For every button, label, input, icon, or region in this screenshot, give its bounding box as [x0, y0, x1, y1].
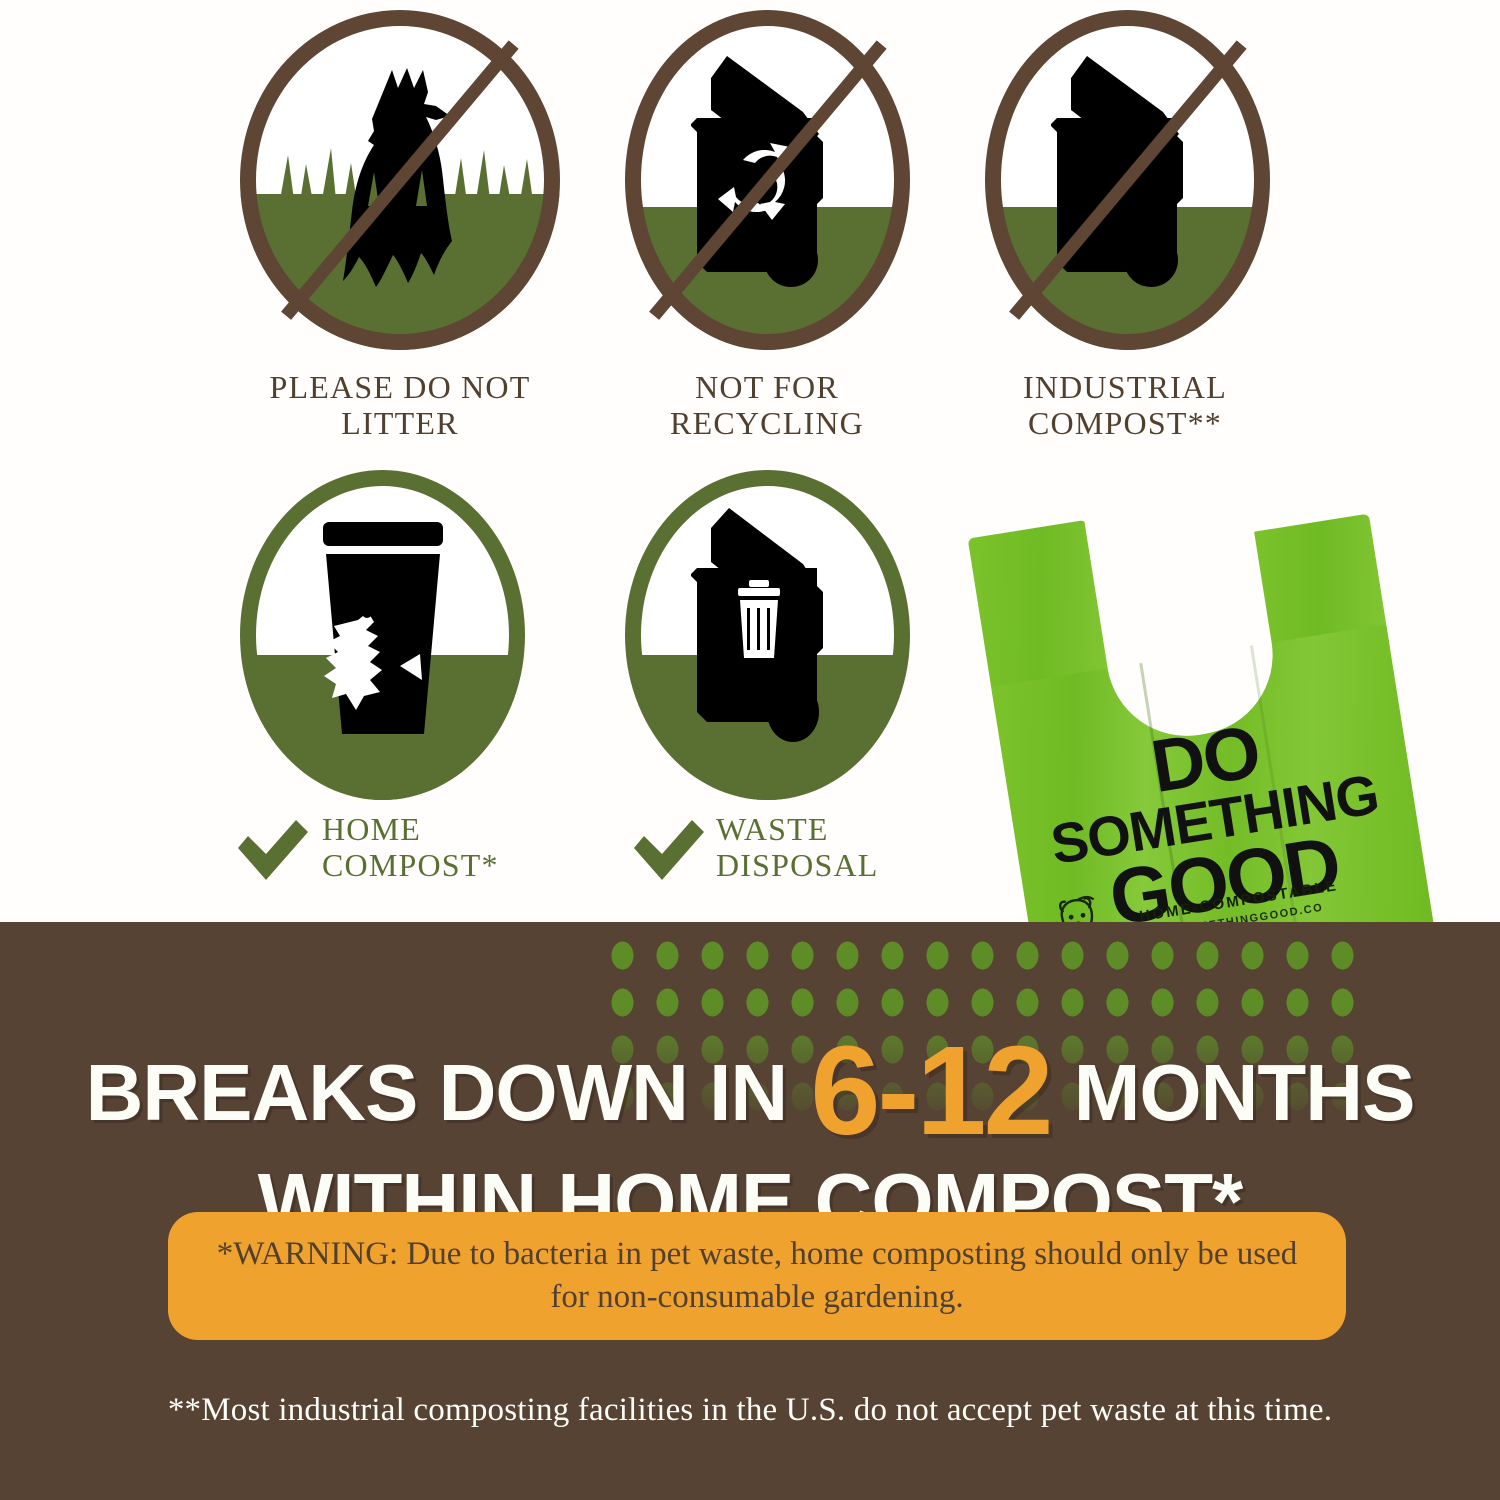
headline-duration-highlight: 6-12	[810, 1020, 1050, 1161]
caption-line-1: NOT FOR	[612, 370, 922, 406]
badge-background	[625, 470, 910, 800]
waste-bin-icon	[625, 470, 910, 800]
icon-badge-not-for-recycling	[625, 10, 910, 350]
caption-please-do-not-litter: PLEASE DO NOT LITTER	[210, 370, 590, 442]
warning-banner: *WARNING: Due to bacteria in pet waste, …	[168, 1212, 1346, 1340]
caption-line-1: HOME	[322, 812, 632, 848]
headline-text-before: BREAKS DOWN IN	[86, 1048, 788, 1137]
caption-industrial-compost: INDUSTRIAL COMPOST**	[965, 370, 1285, 442]
compostable-bag: DO SOMETHING GOOD HOME-COMPOSTABLE DOSOM…	[968, 495, 1474, 925]
checkmark-icon-waste-disposal	[628, 812, 706, 888]
caption-home-compost: HOME COMPOST*	[322, 812, 632, 884]
caption-line-2: LITTER	[210, 406, 590, 442]
headline: BREAKS DOWN IN 6-12 MONTHS WITHIN HOME C…	[0, 1028, 1500, 1242]
warning-text: *WARNING: Due to bacteria in pet waste, …	[168, 1233, 1346, 1319]
compost-bin-fishbone-icon	[240, 470, 525, 800]
caption-line-2: COMPOST*	[322, 848, 632, 884]
caption-not-for-recycling: NOT FOR RECYCLING	[612, 370, 922, 442]
bottom-message-panel: BREAKS DOWN IN 6-12 MONTHS WITHIN HOME C…	[0, 922, 1500, 1500]
caption-line-2: COMPOST**	[965, 406, 1285, 442]
icon-badge-industrial-compost	[985, 10, 1270, 350]
caption-line-1: INDUSTRIAL	[965, 370, 1285, 406]
top-icons-panel: PLEASE DO NOT LITTER	[0, 0, 1500, 922]
headline-text-after: MONTHS	[1074, 1048, 1415, 1137]
headline-line-1: BREAKS DOWN IN 6-12 MONTHS	[0, 1028, 1500, 1154]
icon-badge-please-do-not-litter	[240, 10, 560, 350]
icon-badge-waste-disposal	[625, 470, 910, 800]
checkmark-icon-home-compost	[232, 812, 310, 888]
badge-background	[240, 470, 525, 800]
footnote-text: **Most industrial composting facilities …	[0, 1392, 1500, 1429]
icon-badge-home-compost	[240, 470, 525, 800]
caption-line-1: PLEASE DO NOT	[210, 370, 590, 406]
caption-line-2: RECYCLING	[612, 406, 922, 442]
product-bag-photo: DO SOMETHING GOOD HOME-COMPOSTABLE DOSOM…	[905, 495, 1500, 925]
